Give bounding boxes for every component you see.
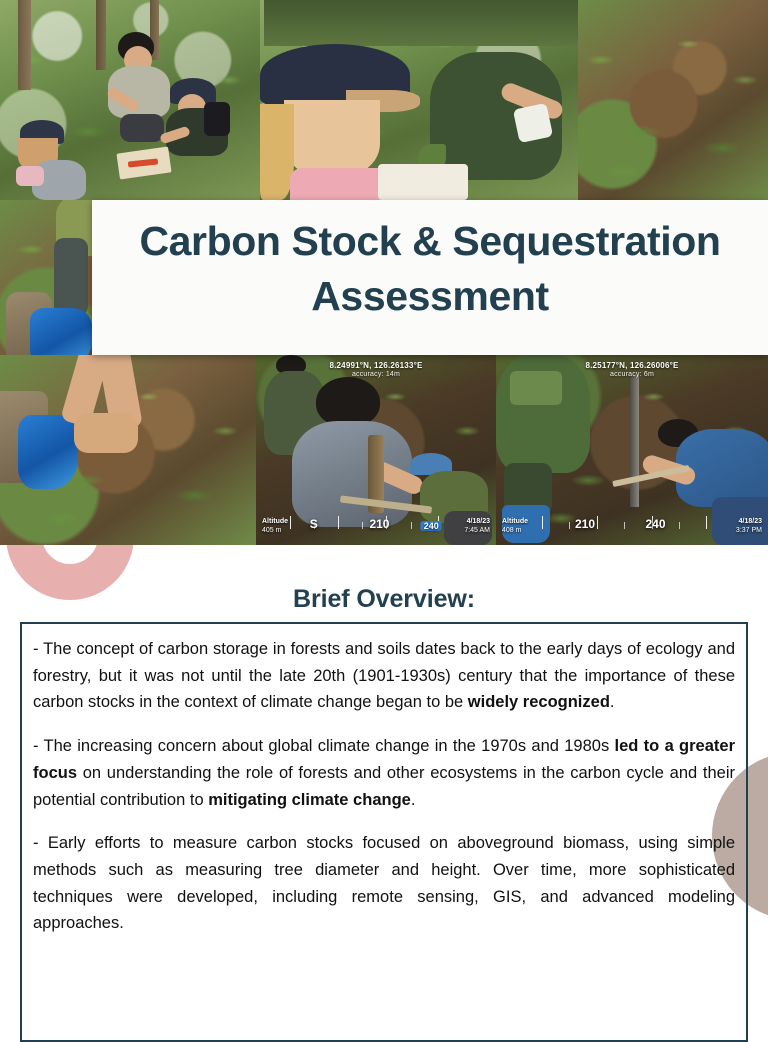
gps-coordinates-label: 8.25177°N, 126.26006°E accuracy: 6m <box>496 361 768 380</box>
gps-accuracy-label: accuracy: 6m <box>496 371 768 380</box>
body-text: . <box>610 693 615 711</box>
compass-bearing-210: 210 <box>369 517 389 531</box>
gps-bottom-bar: Altitude 408 m 210 240 4/18/23 3:37 PM <box>496 505 768 539</box>
overview-text-box: - The concept of carbon storage in fores… <box>20 622 748 1042</box>
overview-paragraph-list: - The concept of carbon storage in fores… <box>33 636 735 937</box>
title-card: Carbon Stock & Sequestration Assessment <box>92 200 768 355</box>
compass-bearing-210: 210 <box>575 517 595 531</box>
compass-bearing-240: 240 <box>645 517 665 531</box>
body-text: . <box>411 791 416 809</box>
compass-bearing-240: 240 <box>421 521 442 531</box>
gps-altitude: Altitude 405 m <box>262 517 288 535</box>
gps-coordinates-label: 8.24991°N, 126.26133°E accuracy: 14m <box>256 361 496 380</box>
compass-direction-label: S <box>310 517 318 531</box>
photo-hands-digging-soil <box>0 355 256 545</box>
gps-bottom-bar: Altitude 405 m S 210 240 4/18/23 7:45 AM <box>256 505 496 539</box>
emphasised-text: widely recognized <box>468 693 610 711</box>
gps-compass-strip: 210 240 <box>534 507 730 533</box>
photo-soil-core-sampling-gps: 8.24991°N, 126.26133°E accuracy: 14m Alt… <box>256 355 496 545</box>
gps-datetime: 4/18/23 3:37 PM <box>736 517 762 535</box>
gps-datetime: 4/18/23 7:45 AM <box>464 517 490 535</box>
body-text: - The concept of carbon storage in fores… <box>33 640 735 711</box>
overview-paragraph: - Early efforts to measure carbon stocks… <box>33 830 735 937</box>
emphasised-text: mitigating climate change <box>208 791 411 809</box>
overview-paragraph: - The concept of carbon storage in fores… <box>33 636 735 716</box>
photo-fieldwork-group-forest-floor <box>0 0 260 200</box>
gps-compass-strip: S 210 240 <box>290 507 463 533</box>
overview-paragraph: - The increasing concern about global cl… <box>33 733 735 813</box>
body-text: - The increasing concern about global cl… <box>33 737 615 755</box>
photo-auger-sampling-gps: 8.25177°N, 126.26006°E accuracy: 6m Alti… <box>496 355 768 545</box>
page-title: Carbon Stock & Sequestration Assessment <box>110 214 750 323</box>
overview-section: Brief Overview: - The concept of carbon … <box>0 545 768 614</box>
gps-accuracy-label: accuracy: 14m <box>256 371 496 380</box>
photo-student-with-cap-clipboard <box>260 0 578 200</box>
photo-soil-pit-sampling <box>578 0 768 200</box>
gps-altitude: Altitude 408 m <box>502 517 528 535</box>
section-heading: Brief Overview: <box>0 585 768 614</box>
body-text: - Early efforts to measure carbon stocks… <box>33 834 735 932</box>
